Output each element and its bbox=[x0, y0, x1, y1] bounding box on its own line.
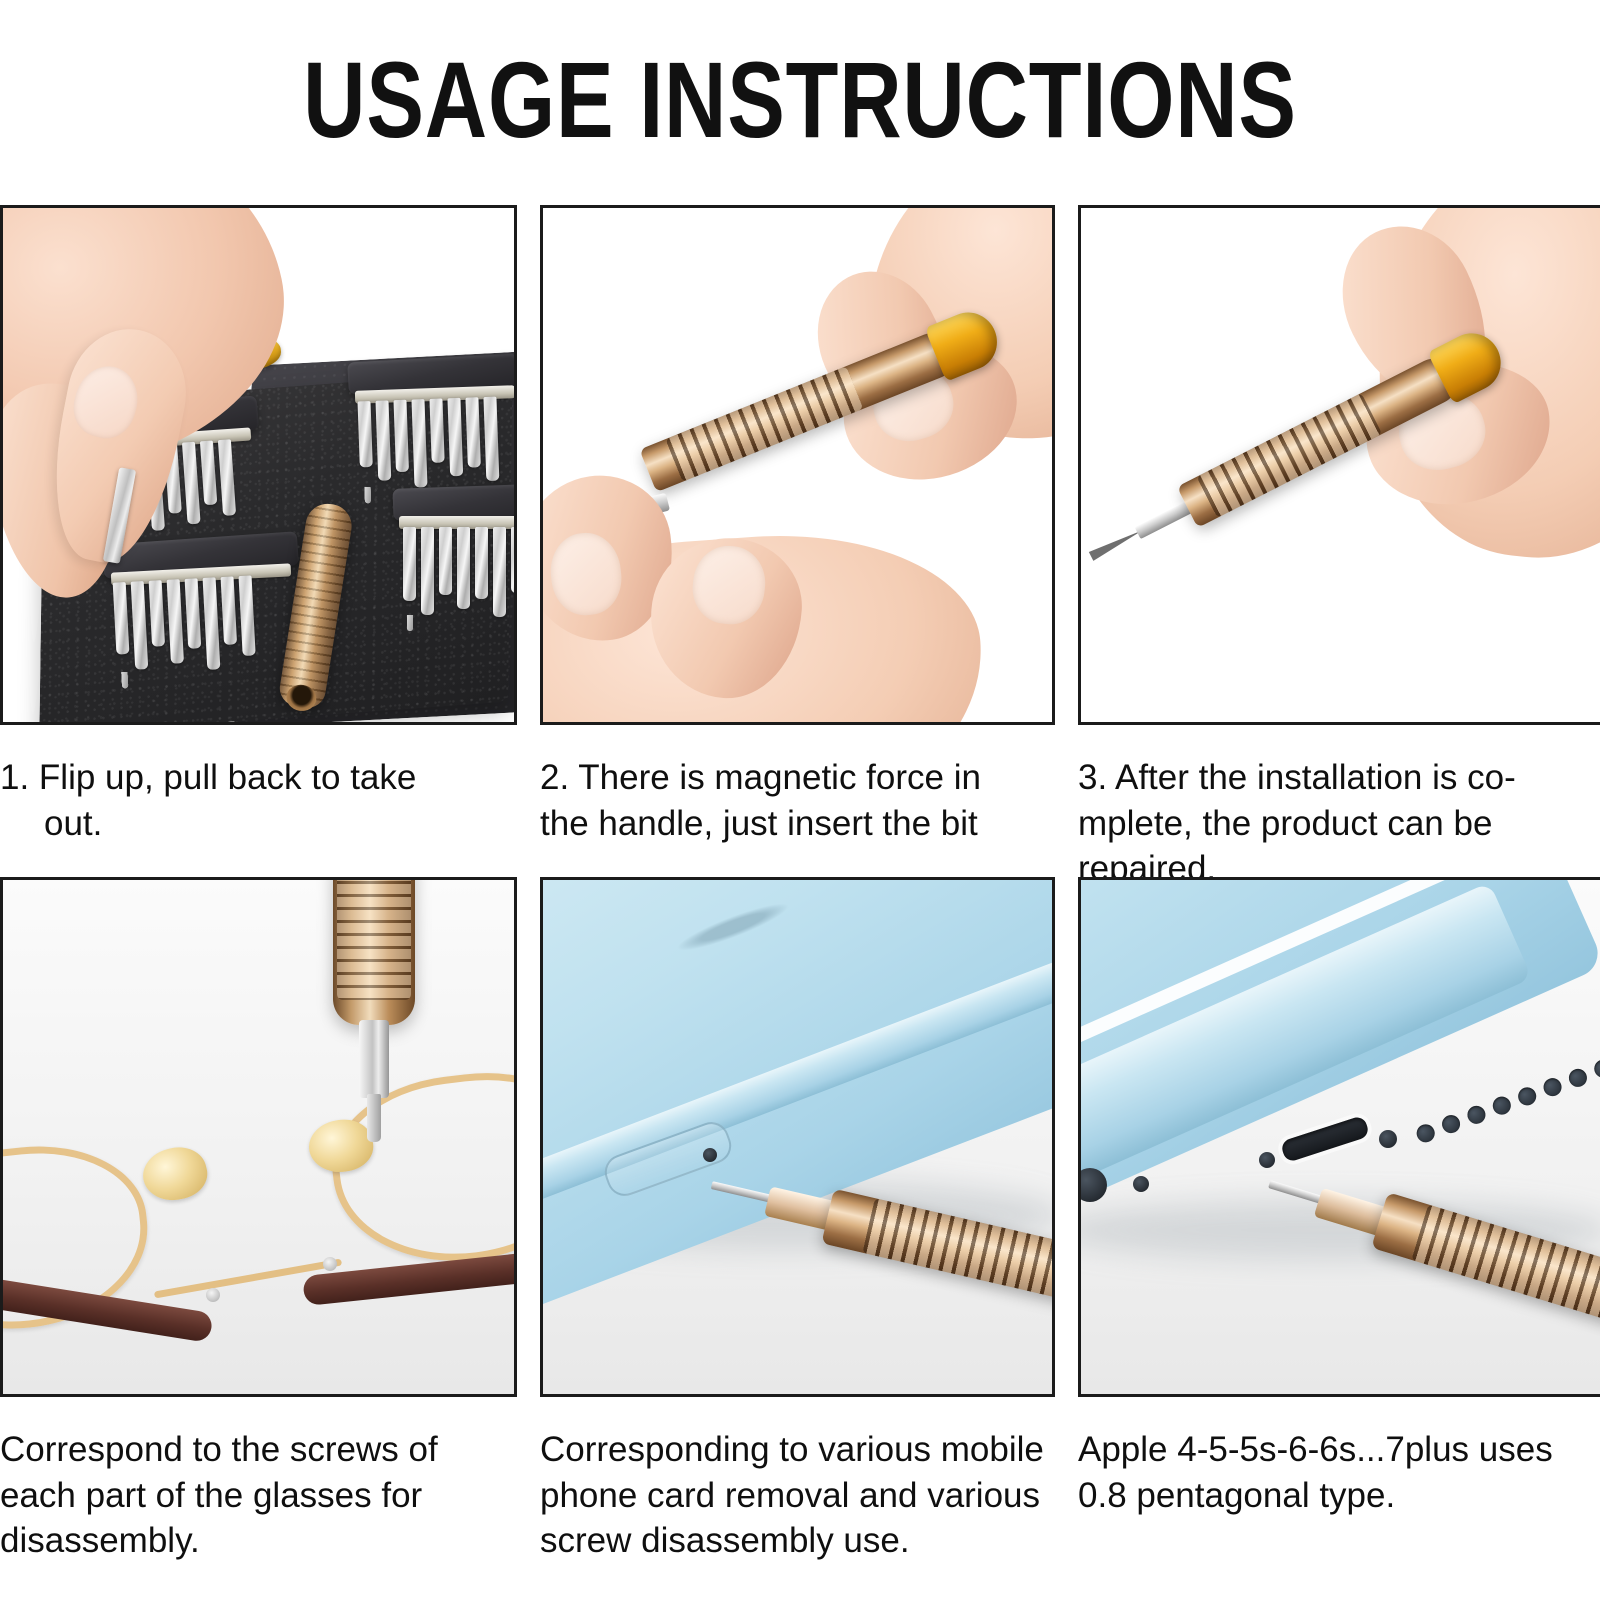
step-1-caption: 1. Flip up, pull back to take out. bbox=[0, 755, 495, 846]
step-1-photo bbox=[0, 205, 517, 725]
screwdriver-bit bbox=[149, 580, 165, 647]
glasses-temple-screw-right bbox=[323, 1257, 337, 1271]
step-3-caption: 3. After the installation is co- mplete,… bbox=[1078, 755, 1588, 892]
assembled-tool-scene bbox=[1081, 208, 1600, 722]
bit-row-2 bbox=[113, 575, 257, 674]
screwdriver-bit bbox=[167, 579, 184, 664]
screwdriver-bit bbox=[493, 527, 506, 617]
step-6-caption: Apple 4-5-5s-6-6s...7plus uses 0.8 penta… bbox=[1078, 1427, 1588, 1518]
screwdriver-bit bbox=[393, 400, 409, 472]
microphone-hole bbox=[1133, 1176, 1149, 1192]
screwdriver-bit bbox=[447, 398, 463, 476]
instructions-row-1: 1. Flip up, pull back to take out. bbox=[0, 205, 1600, 877]
bit-row-3 bbox=[358, 397, 500, 490]
usage-instructions-page: USAGE INSTRUCTIONS bbox=[0, 0, 1600, 1600]
step-card-3: 3. After the installation is co- mplete,… bbox=[1078, 205, 1600, 892]
screwdriver-bit bbox=[457, 527, 470, 609]
step-card-2: 2. There is magnetic force in the handle… bbox=[540, 205, 1055, 846]
pentalobe-screw-right bbox=[1379, 1130, 1397, 1148]
step-4-photo bbox=[0, 877, 517, 1397]
bit-row-4 bbox=[403, 527, 514, 617]
insert-bit-scene bbox=[543, 208, 1052, 722]
sim-tray-scene bbox=[543, 880, 1052, 1394]
pentalobe-screw-left bbox=[1259, 1152, 1275, 1168]
step-5-photo bbox=[540, 877, 1055, 1397]
screwdriver-bit bbox=[113, 582, 130, 655]
screwdriver-bit bbox=[221, 576, 238, 645]
instructions-grid: 1. Flip up, pull back to take out. bbox=[0, 205, 1600, 1577]
screwdriver-bit bbox=[403, 527, 416, 601]
handle-knurling bbox=[1196, 393, 1382, 518]
toolkit-case-scene bbox=[3, 208, 514, 722]
screwdriver-bit bbox=[182, 442, 201, 525]
step-6-photo bbox=[1078, 877, 1600, 1397]
step-5-caption: Corresponding to various mobile phone ca… bbox=[540, 1427, 1050, 1564]
iphone-pentalobe-scene bbox=[1081, 880, 1600, 1394]
screwdriver-bit bbox=[439, 527, 452, 595]
instructions-row-2: Correspond to the screws of each part of… bbox=[0, 877, 1600, 1577]
glasses-temple-screw-left bbox=[206, 1288, 220, 1302]
screwdriver-bit bbox=[465, 397, 480, 467]
handle-knurling bbox=[337, 880, 411, 1000]
screwdriver-bit bbox=[203, 577, 221, 670]
screwdriver-bit bbox=[429, 398, 444, 462]
bit-point bbox=[367, 1094, 381, 1142]
step-card-4: Correspond to the screws of each part of… bbox=[0, 877, 517, 1564]
step-3-photo bbox=[1078, 205, 1600, 725]
step-4-caption: Correspond to the screws of each part of… bbox=[0, 1427, 495, 1564]
step-card-6: Apple 4-5-5s-6-6s...7plus uses 0.8 penta… bbox=[1078, 877, 1600, 1518]
screwdriver-bit bbox=[358, 401, 373, 467]
step-2-caption: 2. There is magnetic force in the handle… bbox=[540, 755, 1040, 846]
screwdriver-bit bbox=[475, 527, 488, 599]
page-title: USAGE INSTRUCTIONS bbox=[160, 40, 1440, 161]
step-card-1: 1. Flip up, pull back to take out. bbox=[0, 205, 517, 846]
screwdriver-on-glasses bbox=[333, 880, 381, 1160]
step-card-5: Corresponding to various mobile phone ca… bbox=[540, 877, 1055, 1564]
installed-bit-shaft bbox=[359, 1020, 389, 1098]
screwdriver-bit bbox=[421, 527, 434, 615]
screwdriver-bit bbox=[200, 441, 217, 506]
screwdriver-bit bbox=[411, 399, 427, 487]
glasses-repair-scene bbox=[3, 880, 514, 1394]
screwdriver-bit bbox=[375, 400, 391, 480]
screwdriver-bit bbox=[131, 581, 149, 670]
step-2-photo bbox=[540, 205, 1055, 725]
screwdriver-bit bbox=[185, 578, 202, 649]
screwdriver-bit bbox=[511, 527, 514, 593]
handle-knurling bbox=[665, 366, 863, 482]
sim-eject-pinhole bbox=[703, 1148, 717, 1162]
